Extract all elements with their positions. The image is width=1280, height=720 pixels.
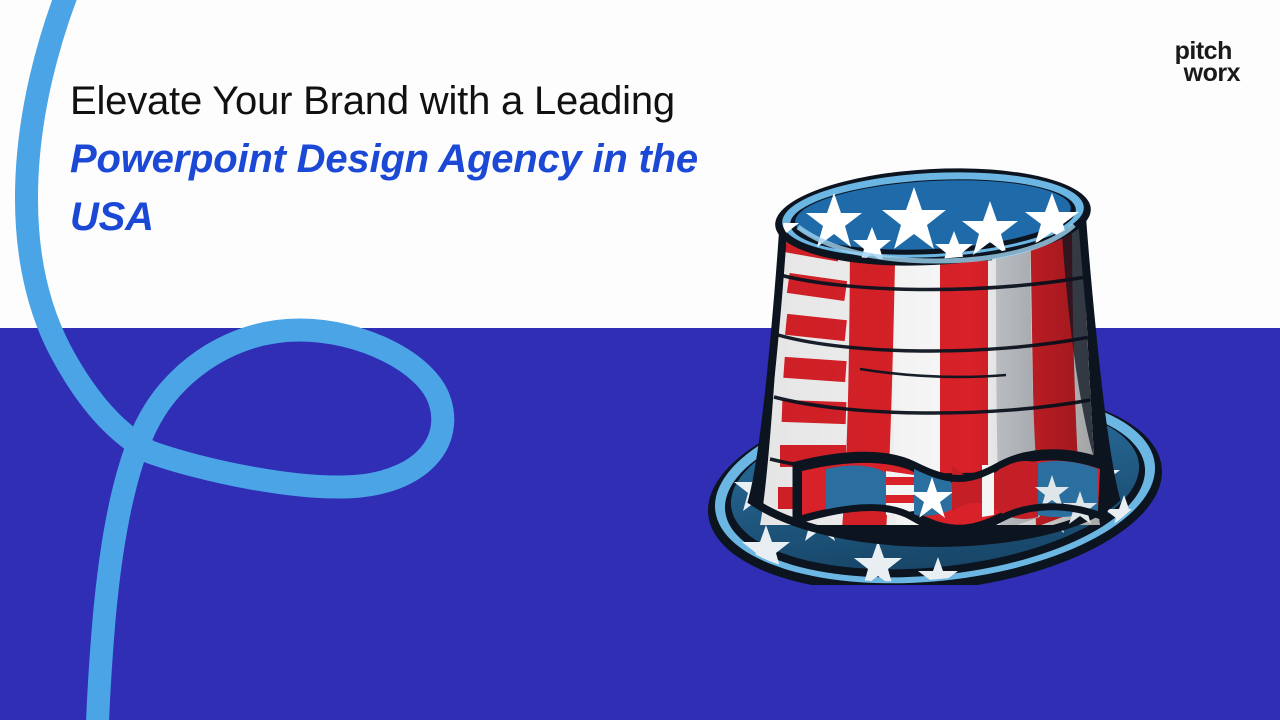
logo-line-worx: worx	[1175, 62, 1240, 84]
slide-canvas: Elevate Your Brand with a Leading Powerp…	[0, 0, 1280, 720]
brand-logo[interactable]: pitch worx	[1175, 40, 1240, 84]
page-title: Elevate Your Brand with a Leading Powerp…	[70, 72, 710, 246]
uncle-sam-top-hat-icon	[700, 165, 1180, 585]
headline-part-plain: Elevate Your Brand with a Leading	[70, 79, 675, 123]
headline-part-accent: Powerpoint Design Agency in the USA	[70, 137, 698, 239]
